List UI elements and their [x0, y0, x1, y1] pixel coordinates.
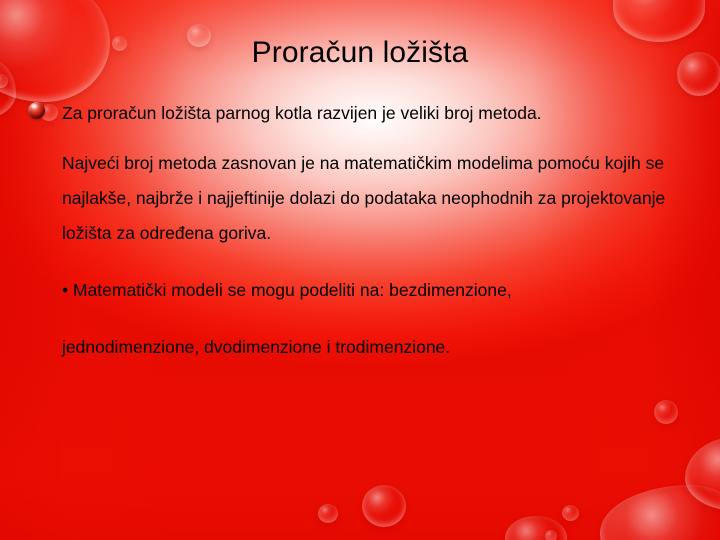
paragraph-3-text: • Matematički modeli se mogu podeliti na…	[62, 280, 512, 300]
bubble-bottom-left-dot	[562, 505, 579, 521]
slide-body: Za proračun ložišta parnog kotla razvije…	[0, 98, 720, 372]
paragraph-1: Za proračun ložišta parnog kotla razvije…	[62, 98, 666, 129]
paragraph-4: jednodimenzione, dvodimenzione i trodime…	[62, 322, 686, 372]
slide-title: Proračun ložišta	[0, 36, 720, 71]
bubble-bottom-center-small	[318, 504, 338, 523]
paragraph-4-text: jednodimenzione, dvodimenzione i trodime…	[62, 337, 450, 357]
paragraph-2: Najveći broj metoda zasnovan je na matem…	[62, 146, 686, 251]
paragraph-1-text: Za proračun ložišta parnog kotla razvije…	[62, 103, 542, 123]
presentation-slide: Proračun ložišta Za proračun ložišta par…	[0, 0, 720, 540]
bubble-bottom-far-right	[505, 516, 567, 540]
paragraph-3: • Matematički modeli se mogu podeliti na…	[62, 273, 686, 308]
bubble-bottom-center	[362, 485, 406, 527]
paragraph-2-text: Najveći broj metoda zasnovan je na matem…	[62, 153, 665, 243]
bubble-bottom-right-large	[600, 485, 720, 540]
sphere-bullet-icon	[28, 102, 45, 119]
bubble-right-mid	[654, 400, 678, 424]
